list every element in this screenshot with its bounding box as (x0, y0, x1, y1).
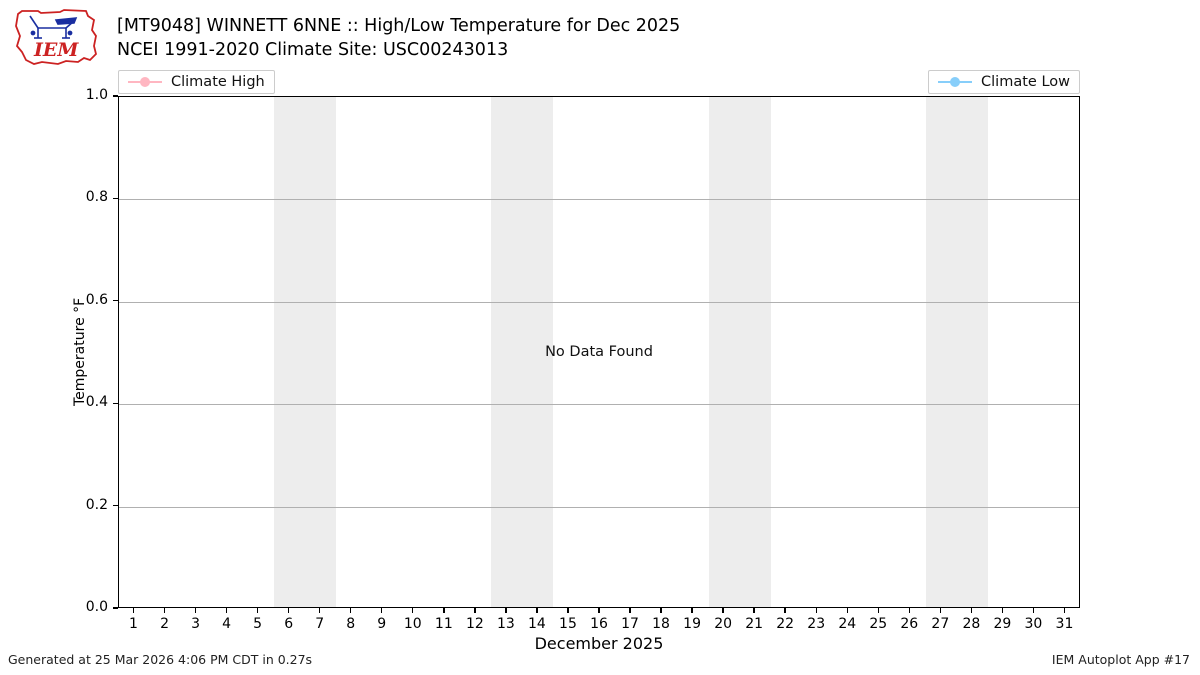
y-axis-tick-mark (113, 300, 118, 301)
x-axis-tick-mark (971, 608, 972, 613)
x-axis-tick-label: 8 (336, 616, 366, 632)
y-axis-label: Temperature °F (72, 298, 88, 406)
x-axis-tick-mark (505, 608, 506, 613)
x-axis-tick-mark (878, 608, 879, 613)
iem-logo-svg: IEM (8, 6, 104, 68)
x-axis-tick-mark (940, 608, 941, 613)
x-axis-tick-label: 6 (274, 616, 304, 632)
x-axis-tick-label: 27 (925, 616, 955, 632)
y-axis-tick-mark (113, 505, 118, 506)
x-axis-tick-label: 12 (460, 616, 490, 632)
x-axis-tick-mark (288, 608, 289, 613)
x-axis-tick-mark (474, 608, 475, 613)
y-axis-tick-label: 1.0 (60, 87, 108, 103)
y-axis-tick-mark (113, 403, 118, 404)
legend-swatch-climate-low (938, 75, 972, 89)
x-axis-tick-mark (319, 608, 320, 613)
x-axis-tick-label: 7 (305, 616, 335, 632)
x-axis-tick-label: 24 (832, 616, 862, 632)
x-axis-tick-mark (660, 608, 661, 613)
x-axis-tick-label: 18 (646, 616, 676, 632)
x-axis-tick-label: 11 (429, 616, 459, 632)
x-axis-tick-label: 23 (801, 616, 831, 632)
legend-label-climate-low: Climate Low (981, 74, 1070, 90)
x-axis-tick-mark (443, 608, 444, 613)
x-axis-tick-label: 10 (398, 616, 428, 632)
x-axis-tick-mark (691, 608, 692, 613)
x-axis-tick-label: 30 (1018, 616, 1048, 632)
x-axis-tick-mark (1033, 608, 1034, 613)
x-axis-tick-mark (257, 608, 258, 613)
logo-text: IEM (33, 39, 79, 61)
x-axis-tick-label: 26 (894, 616, 924, 632)
x-axis-tick-label: 5 (243, 616, 273, 632)
legend-climate-low[interactable]: Climate Low (928, 70, 1080, 94)
x-axis-tick-label: 25 (863, 616, 893, 632)
x-axis-tick-label: 16 (584, 616, 614, 632)
x-axis-tick-label: 31 (1049, 616, 1079, 632)
x-axis-tick-mark (722, 608, 723, 613)
x-axis-tick-label: 1 (119, 616, 149, 632)
y-axis-tick-mark (113, 95, 118, 96)
footer-generated-text: Generated at 25 Mar 2026 4:06 PM CDT in … (8, 652, 312, 667)
x-axis-tick-mark (412, 608, 413, 613)
legend-label-climate-high: Climate High (171, 74, 265, 90)
x-axis-tick-label: 19 (677, 616, 707, 632)
x-axis-tick-label: 22 (770, 616, 800, 632)
x-axis-tick-mark (784, 608, 785, 613)
y-axis-tick-mark (113, 198, 118, 199)
x-axis-tick-label: 4 (212, 616, 242, 632)
x-axis-tick-label: 28 (956, 616, 986, 632)
x-axis-label: December 2025 (118, 634, 1080, 653)
chart-plot-inner: No Data Found (119, 97, 1079, 607)
x-axis-tick-mark (381, 608, 382, 613)
legend-swatch-climate-high (128, 75, 162, 89)
x-axis-tick-label: 14 (522, 616, 552, 632)
page-title: [MT9048] WINNETT 6NNE :: High/Low Temper… (117, 14, 1017, 62)
x-axis-tick-mark (598, 608, 599, 613)
x-axis-tick-label: 3 (181, 616, 211, 632)
x-axis-tick-mark (567, 608, 568, 613)
x-axis-tick-label: 9 (367, 616, 397, 632)
legend-climate-high[interactable]: Climate High (118, 70, 275, 94)
x-axis-tick-mark (226, 608, 227, 613)
footer-app-text: IEM Autoplot App #17 (1052, 652, 1190, 667)
chart-title-line1: [MT9048] WINNETT 6NNE :: High/Low Temper… (117, 14, 1017, 38)
gridline-horizontal (119, 404, 1079, 405)
x-axis-tick-mark (350, 608, 351, 613)
x-axis-tick-mark (1002, 608, 1003, 613)
y-axis-tick-label: 0.0 (60, 599, 108, 615)
chart-title-line2: NCEI 1991-2020 Climate Site: USC00243013 (117, 38, 1017, 62)
x-axis-tick-label: 2 (150, 616, 180, 632)
x-axis-tick-label: 15 (553, 616, 583, 632)
x-axis-tick-mark (629, 608, 630, 613)
y-axis-tick-label: 0.2 (60, 497, 108, 513)
x-axis-tick-label: 20 (708, 616, 738, 632)
x-axis-tick-label: 21 (739, 616, 769, 632)
x-axis-tick-label: 29 (987, 616, 1017, 632)
x-axis-tick-mark (909, 608, 910, 613)
y-axis-tick-mark (113, 607, 118, 608)
x-axis-tick-mark (536, 608, 537, 613)
chart-plot-area[interactable]: No Data Found (118, 96, 1080, 608)
x-axis-tick-mark (195, 608, 196, 613)
gridline-horizontal (119, 199, 1079, 200)
x-axis-tick-mark (847, 608, 848, 613)
x-axis-tick-label: 13 (491, 616, 521, 632)
iem-logo: IEM (8, 6, 104, 68)
x-axis-tick-mark (164, 608, 165, 613)
x-axis-tick-mark (133, 608, 134, 613)
no-data-message: No Data Found (119, 344, 1079, 360)
y-axis-tick-label: 0.8 (60, 189, 108, 205)
x-axis-tick-mark (816, 608, 817, 613)
x-axis-tick-mark (753, 608, 754, 613)
x-axis-tick-label: 17 (615, 616, 645, 632)
x-axis-tick-mark (1064, 608, 1065, 613)
gridline-horizontal (119, 507, 1079, 508)
weather-station-icon (30, 16, 76, 38)
gridline-horizontal (119, 302, 1079, 303)
